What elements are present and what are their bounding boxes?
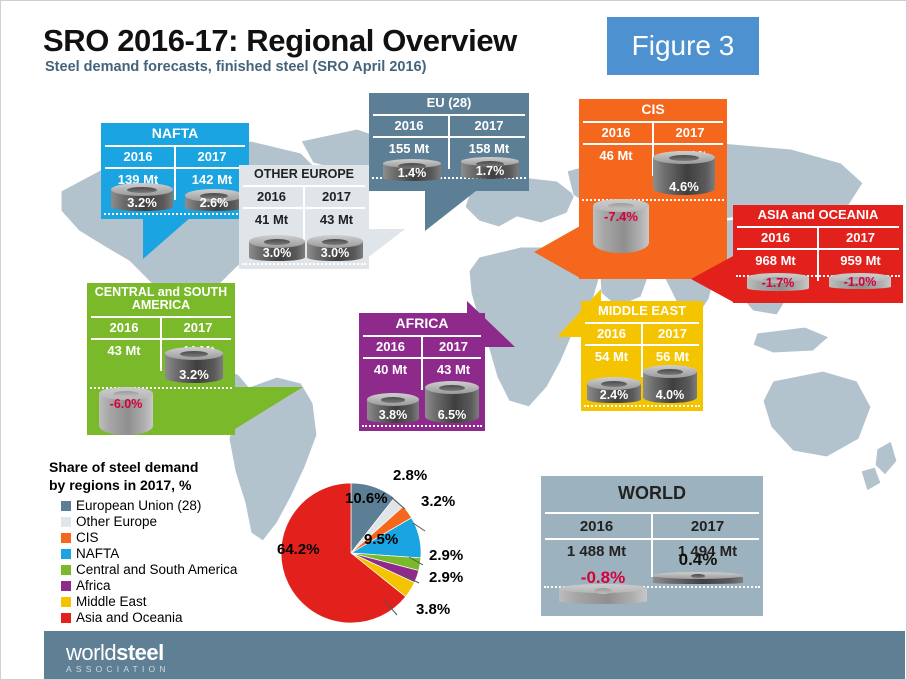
region-name-africa: AFRICA: [359, 313, 485, 335]
page-title: SRO 2016-17: Regional Overview: [43, 23, 517, 59]
region-name-nafta: NAFTA: [101, 123, 249, 145]
coin-nafta-2016: 3.2%: [111, 183, 173, 215]
coin-label-world-2016: -0.8%: [559, 568, 647, 588]
infographic-canvas: SRO 2016-17: Regional Overview Steel dem…: [0, 0, 907, 680]
region-value1-other-europe: 41 Mt: [239, 209, 304, 231]
legend-item-africa: Africa: [61, 578, 279, 593]
legend-title: Share of steel demand by regions in 2017…: [49, 459, 279, 494]
region-year1-nafta: 2016: [101, 147, 175, 167]
region-box-asia-oceania: ASIA and OCEANIA 2016 2017 968 Mt 959 Mt…: [733, 205, 903, 303]
region-box-central-south-america: CENTRAL and SOUTH AMERICA 2016 2017 43 M…: [87, 283, 235, 435]
legend-swatch-icon: [61, 549, 71, 559]
region-box-eu28: EU (28) 2016 2017 155 Mt 158 Mt 1.4% 1.7…: [369, 93, 529, 191]
region-name-eu28: EU (28): [369, 93, 529, 114]
coin-central-south-america-2017: 3.2%: [165, 347, 223, 387]
legend-swatch-icon: [61, 581, 71, 591]
nafta-pointer-tail: [143, 217, 191, 259]
coin-label-asia-oceania-2016: -1.7%: [747, 276, 809, 290]
cis-pointer-tail: [534, 226, 580, 278]
region-value2-asia-oceania: 959 Mt: [818, 250, 903, 272]
coin-middle-east-2016: 2.4%: [587, 377, 641, 407]
region-value1-world: 1 488 Mt: [541, 540, 652, 564]
region-value1-cis: 46 Mt: [579, 145, 653, 167]
region-year2-other-europe: 2017: [304, 187, 369, 207]
coin-eu28-2016: 1.4%: [383, 159, 441, 185]
region-year2-cis: 2017: [653, 123, 727, 143]
region-name-other-europe: OTHER EUROPE: [239, 165, 369, 185]
region-year1-africa: 2016: [359, 337, 422, 357]
region-year2-asia-oceania: 2017: [818, 228, 903, 248]
legend-swatch-icon: [61, 533, 71, 543]
legend-item-central-south-america: Central and South America: [61, 562, 279, 577]
logo-part1: world: [66, 640, 116, 665]
pie-legend: Share of steel demand by regions in 2017…: [49, 459, 279, 626]
coin-central-south-america-2016: -6.0%: [99, 387, 153, 439]
pie-label-nafta: 9.5%: [364, 531, 398, 548]
legend-swatch-icon: [61, 501, 71, 511]
region-name-central-south-america: CENTRAL and SOUTH AMERICA: [87, 283, 235, 316]
region-value2-nafta: 142 Mt: [175, 169, 249, 191]
region-year1-world: 2016: [541, 516, 652, 538]
region-box-africa: AFRICA 2016 2017 40 Mt 43 Mt 3.8% 6.5%: [359, 313, 485, 431]
coin-label-cis-2016: -7.4%: [593, 209, 649, 224]
coin-other-europe-2016: 3.0%: [249, 235, 305, 265]
coin-cis-2017: 4.6%: [653, 151, 715, 199]
region-year1-cis: 2016: [579, 123, 653, 143]
coin-other-europe-2017: 3.0%: [307, 235, 363, 265]
eu28-pointer-tail: [425, 187, 481, 231]
legend-item-cis: CIS: [61, 530, 279, 545]
region-year2-world: 2017: [652, 516, 763, 538]
pie-label-middle-east: 3.8%: [416, 601, 450, 618]
coin-label-other-europe-2017: 3.0%: [307, 246, 363, 260]
central-south-america-pointer-tail: [235, 387, 303, 429]
legend-label: Middle East: [76, 594, 147, 609]
region-box-nafta: NAFTA 2016 2017 139 Mt 142 Mt 3.2% 2.6%: [101, 123, 249, 219]
coin-africa-2016: 3.8%: [367, 393, 419, 427]
region-year2-nafta: 2017: [175, 147, 249, 167]
region-year2-eu28: 2017: [449, 116, 529, 136]
region-value2-africa: 43 Mt: [422, 359, 485, 381]
region-value1-africa: 40 Mt: [359, 359, 422, 381]
region-year1-central-south-america: 2016: [87, 318, 161, 338]
region-year2-middle-east: 2017: [642, 324, 703, 344]
pie-label-africa: 2.9%: [429, 569, 463, 586]
legend-label: European Union (28): [76, 498, 201, 513]
coin-eu28-2017: 1.7%: [461, 157, 519, 183]
region-year2-africa: 2017: [422, 337, 485, 357]
coin-world-2017: 0.4%: [653, 572, 743, 588]
coin-label-nafta-2016: 3.2%: [111, 195, 173, 210]
legend-label: CIS: [76, 530, 99, 545]
legend-item-asia-oceania: Asia and Oceania: [61, 610, 279, 625]
figure-badge-label: Figure 3: [632, 30, 735, 62]
pie-label-other-europe: 2.8%: [393, 467, 427, 484]
coin-world-2016: -0.8%: [559, 584, 647, 608]
coin-nafta-2017: 2.6%: [185, 189, 243, 215]
region-year1-eu28: 2016: [369, 116, 449, 136]
region-value1-middle-east: 54 Mt: [581, 346, 642, 368]
coin-middle-east-2017: 4.0%: [643, 365, 697, 407]
pie-label-eu28: 10.6%: [345, 490, 388, 507]
coin-label-middle-east-2017: 4.0%: [643, 388, 697, 402]
legend-label: Asia and Oceania: [76, 610, 183, 625]
worldsteel-logo: worldsteel ASSOCIATION: [66, 640, 170, 674]
region-name-asia-oceania: ASIA and OCEANIA: [733, 205, 903, 226]
coin-label-africa-2016: 3.8%: [367, 408, 419, 422]
footer-bar: worldsteel ASSOCIATION: [44, 631, 905, 679]
legend-label: Africa: [76, 578, 111, 593]
pie-label-cis: 3.2%: [421, 493, 455, 510]
coin-label-world-2017: 0.4%: [653, 550, 743, 570]
region-value1-central-south-america: 43 Mt: [87, 340, 161, 362]
logo-part2: steel: [116, 640, 164, 665]
coin-label-cis-2017: 4.6%: [653, 179, 715, 194]
region-box-world: WORLD 2016 2017 1 488 Mt 1 494 Mt -0.8% …: [541, 476, 763, 616]
coin-label-central-south-america-2016: -6.0%: [99, 397, 153, 411]
region-name-cis: CIS: [579, 99, 727, 121]
coin-label-africa-2017: 6.5%: [425, 408, 479, 422]
coin-label-central-south-america-2017: 3.2%: [165, 367, 223, 382]
region-year1-asia-oceania: 2016: [733, 228, 818, 248]
coin-label-eu28-2017: 1.7%: [461, 164, 519, 178]
legend-item-eu28: European Union (28): [61, 498, 279, 513]
region-value2-other-europe: 43 Mt: [304, 209, 369, 231]
region-box-middle-east: MIDDLE EAST 2016 2017 54 Mt 56 Mt 2.4% 4…: [581, 301, 703, 411]
coin-label-middle-east-2016: 2.4%: [587, 388, 641, 402]
coin-asia-oceania-2017: -1.0%: [829, 273, 891, 293]
asia-oceania-pointer-tail: [691, 255, 735, 303]
legend-item-nafta: NAFTA: [61, 546, 279, 561]
coin-label-other-europe-2016: 3.0%: [249, 246, 305, 260]
coin-cis-2016: -7.4%: [593, 199, 649, 257]
legend-swatch-icon: [61, 565, 71, 575]
legend-swatch-icon: [61, 597, 71, 607]
region-value1-eu28: 155 Mt: [369, 138, 449, 160]
region-year1-other-europe: 2016: [239, 187, 304, 207]
figure-badge: Figure 3: [607, 17, 759, 75]
legend-item-middle-east: Middle East: [61, 594, 279, 609]
region-year2-central-south-america: 2017: [161, 318, 235, 338]
coin-label-nafta-2017: 2.6%: [185, 196, 243, 210]
region-name-world: WORLD: [541, 476, 763, 507]
region-name-middle-east: MIDDLE EAST: [581, 301, 703, 322]
legend-label: Central and South America: [76, 562, 237, 577]
region-value1-asia-oceania: 968 Mt: [733, 250, 818, 272]
coin-asia-oceania-2016: -1.7%: [747, 273, 809, 295]
region-box-other-europe: OTHER EUROPE 2016 2017 41 Mt 43 Mt 3.0% …: [239, 165, 369, 269]
legend-label: Other Europe: [76, 514, 157, 529]
region-year1-middle-east: 2016: [581, 324, 642, 344]
region-box-cis: CIS 2016 2017 46 Mt 48 Mt 4.6% -7.4%: [579, 99, 727, 279]
pie-label-asia-oceania: 64.2%: [277, 541, 320, 558]
coin-label-eu28-2016: 1.4%: [383, 166, 441, 180]
legend-title-line2: by regions in 2017, %: [49, 477, 279, 495]
coin-label-asia-oceania-2017: -1.0%: [829, 275, 891, 289]
pie-label-central-south-america: 2.9%: [429, 547, 463, 564]
legend-swatch-icon: [61, 613, 71, 623]
legend-item-other-europe: Other Europe: [61, 514, 279, 529]
coin-africa-2017: 6.5%: [425, 381, 479, 427]
logo-subtitle: ASSOCIATION: [66, 664, 170, 674]
legend-swatch-icon: [61, 517, 71, 527]
legend-label: NAFTA: [76, 546, 119, 561]
legend-title-line1: Share of steel demand: [49, 459, 279, 477]
